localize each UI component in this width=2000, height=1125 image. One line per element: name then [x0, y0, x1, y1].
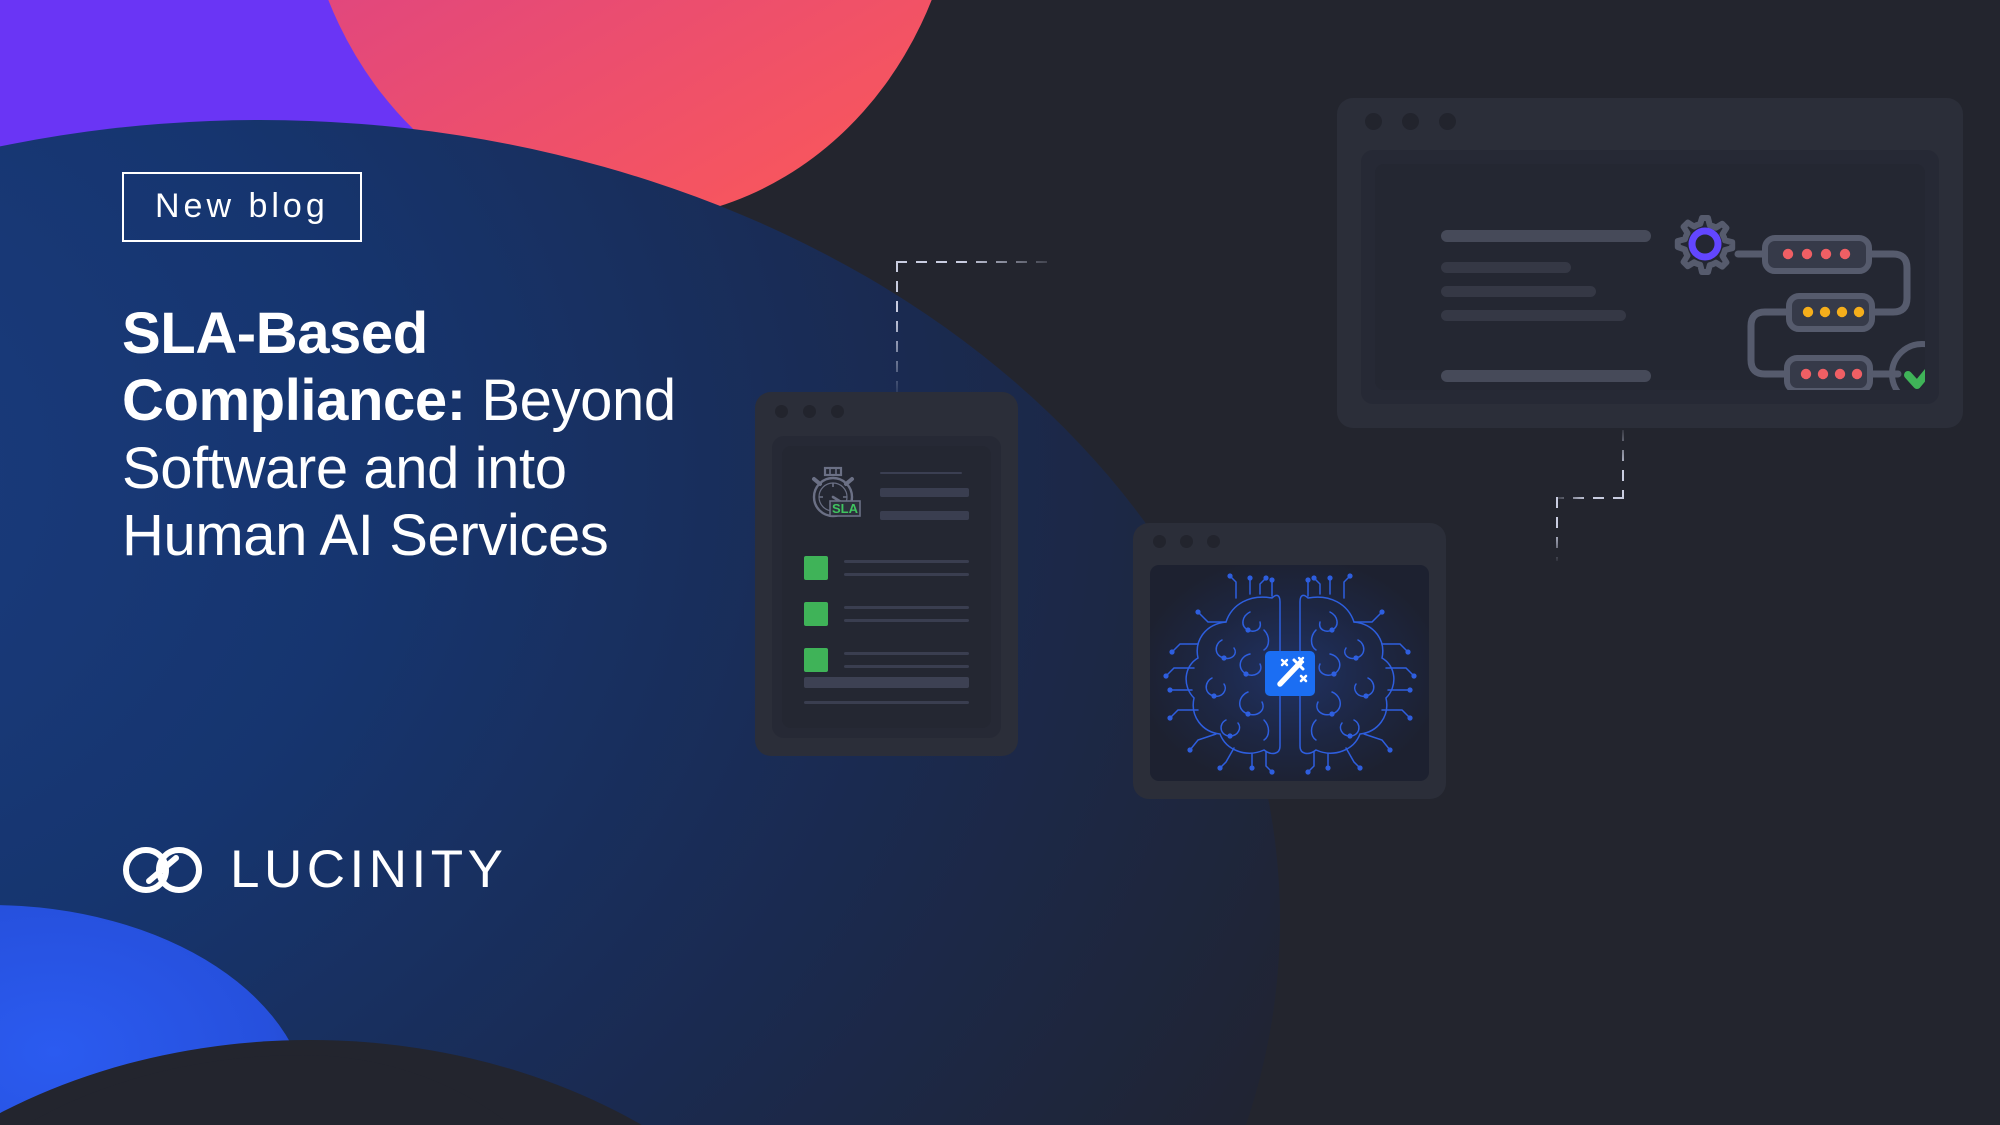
placeholder-line	[880, 488, 969, 497]
new-blog-badge: New blog	[122, 172, 362, 242]
list-item[interactable]	[804, 556, 969, 586]
circuit-brain-icon	[1154, 568, 1426, 778]
list-item-lines	[844, 602, 969, 632]
sla-footer	[804, 677, 969, 704]
placeholder-bar	[804, 677, 969, 688]
workflow-automation-window[interactable]	[1337, 98, 1963, 428]
list-item-lines	[844, 648, 969, 678]
status-node-3	[1787, 358, 1870, 390]
connector-doc-to-flow-vertical	[896, 261, 898, 395]
traffic-light-minimize-icon[interactable]	[803, 405, 816, 418]
window-body	[1150, 565, 1429, 781]
list-item[interactable]	[804, 602, 969, 632]
flow-diagram	[1655, 208, 1925, 390]
placeholder-line	[880, 511, 969, 520]
connector-flow-to-brain-horizontal	[1556, 497, 1624, 499]
blog-promo-card: New blog SLA-Based Compliance: Beyond So…	[0, 0, 2000, 1125]
placeholder-line	[1441, 286, 1596, 297]
window-titlebar	[1337, 98, 1963, 144]
placeholder-heading-bar	[1441, 370, 1651, 382]
hero-text-column: New blog SLA-Based Compliance: Beyond So…	[122, 172, 842, 569]
list-item[interactable]	[804, 648, 969, 678]
window-screen: SLA	[782, 446, 991, 728]
sla-document: SLA	[782, 446, 991, 728]
connector-flow-to-brain-vertical-1	[1622, 430, 1624, 498]
checkbox-checked-icon[interactable]	[804, 648, 828, 672]
traffic-light-close-icon[interactable]	[775, 405, 788, 418]
headline-bold: SLA-Based Compliance:	[122, 301, 466, 433]
window-screen	[1150, 565, 1429, 781]
traffic-light-close-icon[interactable]	[1365, 113, 1382, 130]
gear-icon	[1678, 218, 1732, 272]
window-titlebar	[1133, 523, 1446, 559]
traffic-light-close-icon[interactable]	[1153, 535, 1166, 548]
window-titlebar	[755, 392, 1018, 430]
lucinity-logo: LUCINITY	[122, 843, 507, 896]
sla-checklist-window[interactable]: SLA	[755, 392, 1018, 756]
traffic-light-minimize-icon[interactable]	[1402, 113, 1419, 130]
traffic-light-maximize-icon[interactable]	[1207, 535, 1220, 548]
stopwatch-sla-icon: SLA	[804, 466, 862, 522]
infinity-links-icon	[122, 845, 204, 895]
magic-wand-icon	[1265, 651, 1315, 696]
placeholder-line	[1441, 262, 1571, 273]
checkbox-checked-icon[interactable]	[804, 556, 828, 580]
placeholder-line	[804, 701, 969, 704]
connector-flow-to-brain-vertical-2	[1556, 497, 1558, 561]
ai-brain-window[interactable]	[1133, 523, 1446, 799]
placeholder-heading-bar	[1441, 230, 1651, 242]
window-screen	[1375, 164, 1925, 390]
list-item-lines	[844, 556, 969, 586]
logo-wordmark: LUCINITY	[230, 843, 507, 896]
sla-header-lines	[880, 466, 969, 534]
placeholder-line	[1441, 310, 1626, 321]
placeholder-text-block	[1441, 230, 1651, 390]
page-title: SLA-Based Compliance: Beyond Software an…	[122, 300, 722, 569]
connector-doc-to-flow-horizontal	[896, 261, 1056, 263]
check-circle-icon	[1892, 344, 1925, 390]
checkbox-checked-icon[interactable]	[804, 602, 828, 626]
sla-header-row: SLA	[804, 466, 969, 534]
placeholder-line	[880, 472, 962, 474]
status-node-1	[1765, 238, 1869, 271]
status-node-2	[1789, 296, 1872, 329]
window-body	[1361, 150, 1939, 404]
traffic-light-maximize-icon[interactable]	[1439, 113, 1456, 130]
window-body: SLA	[772, 436, 1001, 738]
traffic-light-minimize-icon[interactable]	[1180, 535, 1193, 548]
traffic-light-maximize-icon[interactable]	[831, 405, 844, 418]
sla-label: SLA	[832, 501, 859, 516]
